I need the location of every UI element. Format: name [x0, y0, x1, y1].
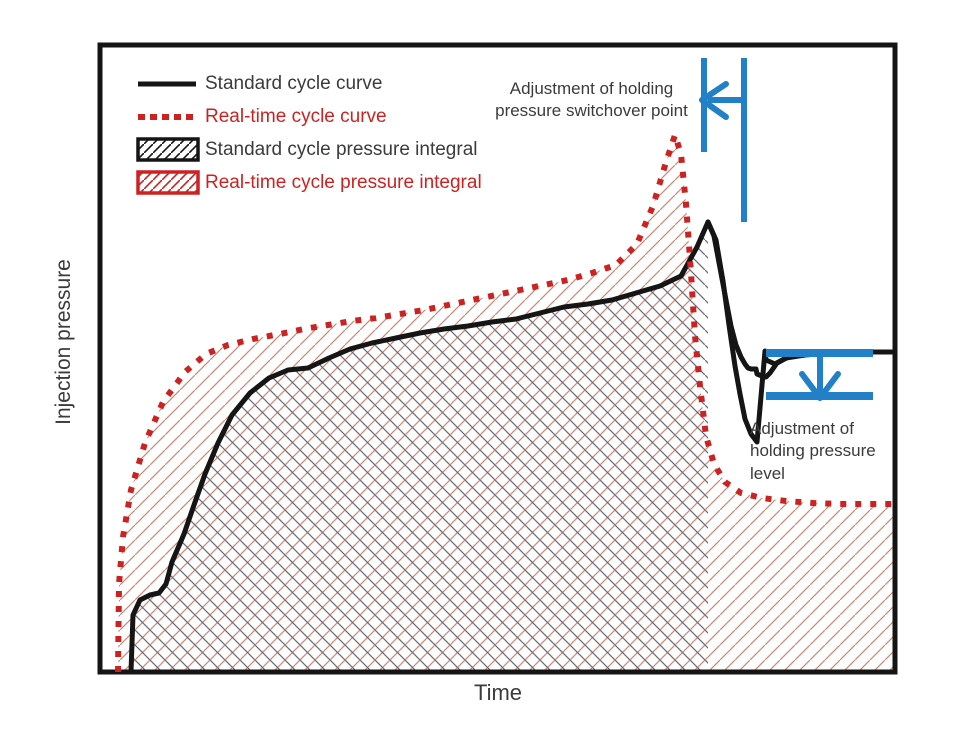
legend-label-standard-cycle-pressure-integral: Standard cycle pressure integral — [205, 139, 477, 161]
annotation-level-line3: level — [750, 463, 890, 485]
annotation-level-line2: holding pressure — [750, 440, 890, 462]
x-axis-label: Time — [398, 680, 598, 706]
chart-figure: Standard cycle curve Real-time cycle cur… — [0, 0, 970, 726]
legend-label-realtime-cycle-pressure-integral: Real-time cycle pressure integral — [205, 172, 482, 194]
annotation-switchover-line1: Adjustment of holding — [484, 78, 699, 100]
integral-areas — [118, 135, 895, 672]
annotation-switchover-label: Adjustment of holding pressure switchove… — [484, 78, 699, 123]
y-axis-label: Injection pressure — [52, 242, 76, 442]
annotation-switchover-marker — [702, 58, 744, 222]
legend-label-standard-cycle-curve: Standard cycle curve — [205, 73, 382, 95]
annotation-switchover-line2: pressure switchover point — [484, 100, 699, 122]
annotation-level-label: Adjustment of holding pressure level — [750, 418, 890, 485]
legend-swatch-realtime-integral — [138, 172, 198, 193]
legend — [138, 84, 198, 193]
legend-swatch-standard-integral — [138, 139, 198, 160]
annotation-level-line1: Adjustment of — [750, 418, 890, 440]
legend-label-realtime-cycle-curve: Real-time cycle curve — [205, 106, 387, 128]
